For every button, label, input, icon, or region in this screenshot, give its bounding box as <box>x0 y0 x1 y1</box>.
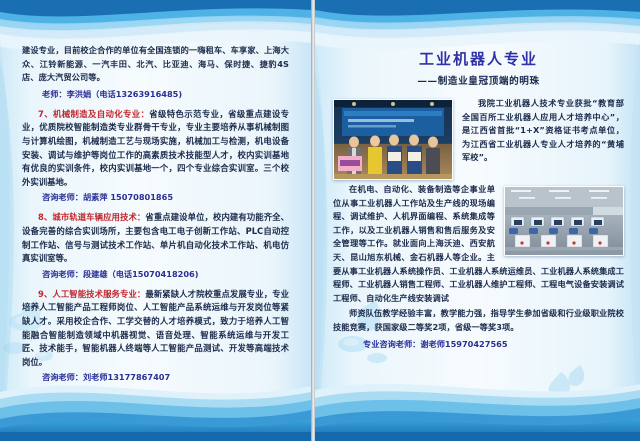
section-8-heading: 8、城市轨道车辆应用技术：省重点建设单位，校内建有功能齐全、设备完善的综合实训场… <box>22 211 289 265</box>
contact-li-hongjuan: 老师：李洪娟（电话13263916485) <box>22 87 289 101</box>
right-paragraph-2: 师资队伍教学经验丰富，教学能力强，指导学生参加省级和行业级职业院校技能竞赛，获国… <box>333 307 624 334</box>
contact-duan-jianxiong: 咨询老师：段建雄（电话15070418206) <box>22 267 289 281</box>
left-page: 建设专业，目前校企合作的单位有全国连锁的一嗨租车、车享家、上海大众、江铃新能源、… <box>0 0 311 441</box>
award-ceremony-photo <box>333 99 453 180</box>
right-page-content: 工业机器人专业 ——制造业皇冠顶端的明珠 <box>315 0 640 441</box>
brochure-spread: 建设专业，目前校企合作的单位有全国连锁的一嗨租车、车享家、上海大众、江铃新能源、… <box>0 0 640 441</box>
page-subtitle: ——制造业皇冠顶端的明珠 <box>333 73 624 87</box>
section-7-title: 7、机械制造及自动化专业： <box>38 109 149 119</box>
section-9-heading: 9、人工智能技术服务专业：最新紧缺人才院校重点发展专业，专业培养人工智能产品工程… <box>22 288 289 370</box>
section-7-heading: 7、机械制造及自动化专业：省级特色示范专业，省级重点建设专业，优质院校智能制造类… <box>22 108 289 190</box>
left-page-content: 建设专业，目前校企合作的单位有全国连锁的一嗨租车、车享家、上海大众、江铃新能源、… <box>0 0 311 441</box>
contact-liu-laoshi: 咨询老师：刘老师13177867407 <box>22 370 289 384</box>
right-page: 工业机器人专业 ——制造业皇冠顶端的明珠 <box>315 0 640 441</box>
robotics-lab-photo <box>504 186 624 256</box>
left-paragraph-0: 建设专业，目前校企合作的单位有全国连锁的一嗨租车、车享家、上海大众、江铃新能源、… <box>22 44 289 85</box>
section-8-title: 8、城市轨道车辆应用技术： <box>38 212 145 222</box>
section-9-title: 9、人工智能技术服务专业： <box>38 289 145 299</box>
contact-hu-suping: 咨询老师：胡素萍 15070801865 <box>22 190 289 204</box>
section-9-body: 最新紧缺人才院校重点发展专业，专业培养人工智能产品工程师岗位、人工智能产品系统运… <box>22 289 289 367</box>
contact-xie-laoshi: 专业咨询老师：谢老师15970427565 <box>333 337 624 351</box>
page-title: 工业机器人专业 <box>333 48 624 69</box>
section-7-body: 省级特色示范专业，省级重点建设专业，优质院校智能制造类专业群骨干专业，专业主要培… <box>22 109 289 187</box>
